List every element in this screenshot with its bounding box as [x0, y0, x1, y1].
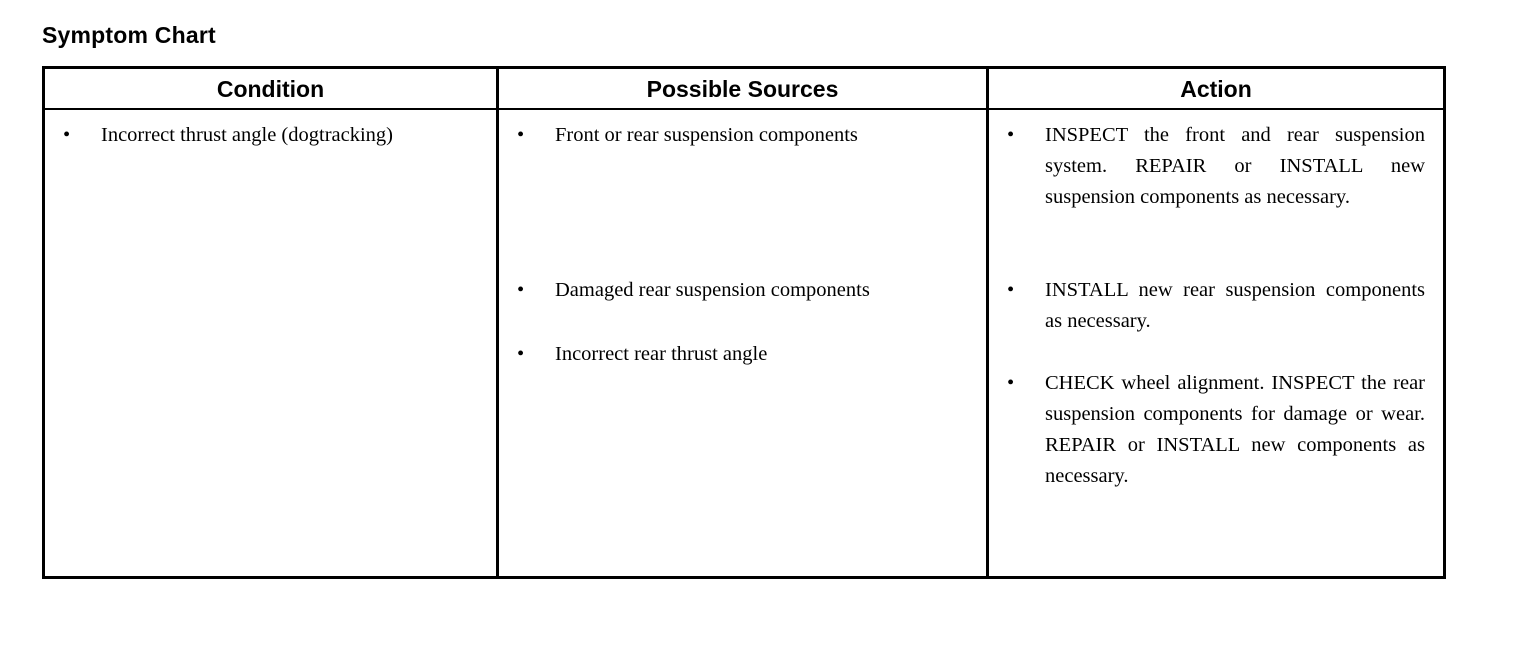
page-title: Symptom Chart	[42, 22, 216, 48]
spacer	[989, 213, 1443, 275]
possible-sources-text-0: Front or rear suspension components	[555, 120, 876, 151]
table-body: • Incorrect thrust angle (dogtracking) •…	[44, 109, 1445, 578]
spacer	[499, 151, 986, 275]
bullet-icon: •	[517, 339, 531, 370]
bullet-icon: •	[1007, 120, 1021, 151]
possible-sources-text-2: Incorrect rear thrust angle	[555, 339, 876, 370]
table-row: • Incorrect thrust angle (dogtracking) •…	[44, 109, 1445, 578]
condition-bullet-list: • Incorrect thrust angle (dogtracking)	[45, 110, 496, 151]
condition-text-0: Incorrect thrust angle (dogtracking)	[101, 120, 436, 151]
bullet-icon: •	[63, 120, 77, 151]
list-item: • Front or rear suspension components	[499, 120, 986, 151]
action-text-2: CHECK wheel alignment. INSPECT the rear …	[1045, 368, 1425, 492]
spacer	[989, 337, 1443, 368]
action-text-1: INSTALL new rear suspension components a…	[1045, 275, 1425, 337]
column-header-possible-sources: Possible Sources	[498, 68, 988, 110]
bullet-icon: •	[517, 275, 531, 306]
list-item: • Damaged rear suspension components	[499, 275, 986, 306]
bullet-icon: •	[1007, 275, 1021, 306]
possible-sources-bullet-list: • Front or rear suspension components • …	[499, 110, 986, 370]
column-header-action: Action	[988, 68, 1445, 110]
list-item: • Incorrect rear thrust angle	[499, 339, 986, 370]
header-row: Condition Possible Sources Action	[44, 68, 1445, 110]
symptom-chart-page: Symptom Chart Condition Possible Sources…	[0, 0, 1536, 648]
action-bullet-list: • INSPECT the front and rear suspension …	[989, 110, 1443, 492]
column-header-condition: Condition	[44, 68, 498, 110]
possible-sources-text-1: Damaged rear suspension components	[555, 275, 876, 306]
list-item: • Incorrect thrust angle (dogtracking)	[45, 120, 496, 151]
spacer	[499, 306, 986, 339]
cell-action: • INSPECT the front and rear suspension …	[988, 109, 1445, 578]
list-item: • INSPECT the front and rear suspension …	[989, 120, 1443, 213]
cell-possible-sources: • Front or rear suspension components • …	[498, 109, 988, 578]
symptom-chart-table: Condition Possible Sources Action • Inco…	[42, 66, 1446, 579]
bullet-icon: •	[1007, 368, 1021, 399]
table-header: Condition Possible Sources Action	[44, 68, 1445, 110]
cell-condition: • Incorrect thrust angle (dogtracking)	[44, 109, 498, 578]
list-item: • CHECK wheel alignment. INSPECT the rea…	[989, 368, 1443, 492]
list-item: • INSTALL new rear suspension components…	[989, 275, 1443, 337]
bullet-icon: •	[517, 120, 531, 151]
action-text-0: INSPECT the front and rear suspension sy…	[1045, 120, 1425, 213]
